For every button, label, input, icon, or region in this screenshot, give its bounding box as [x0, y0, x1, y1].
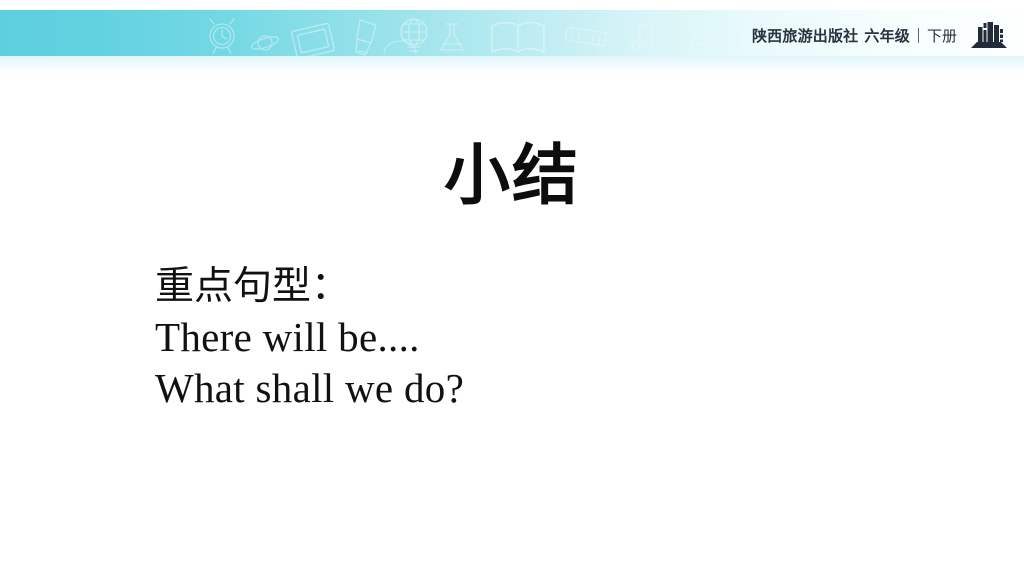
volume-label: 下册 [927, 25, 957, 46]
header-top-white-strip [0, 0, 1024, 10]
meta-divider [918, 28, 919, 43]
slide-header: 陕西旅游出版社 六年级 下册 [0, 0, 1024, 78]
globe-doodle-icon [401, 19, 427, 51]
grade-label: 六年级 [864, 25, 910, 46]
body-line-there-will-be: There will be.... [155, 312, 915, 363]
ruler-doodle-icon [565, 27, 606, 45]
publisher-label: 陕西旅游出版社 [752, 25, 858, 46]
planet-doodle-icon [250, 34, 279, 51]
alarm-clock-doodle-icon [210, 19, 234, 53]
page-title: 小结 [0, 136, 1024, 216]
music-note-doodle-icon [632, 24, 652, 49]
pencil-doodle-icon [356, 20, 376, 55]
body-line-key-patterns: 重点句型： [155, 262, 915, 312]
flask-doodle-icon [441, 24, 463, 50]
books-stack-icon [968, 19, 1010, 51]
slide-body: 重点句型： There will be.... What shall we do… [155, 262, 915, 414]
slide-root: 陕西旅游出版社 六年级 下册 [0, 0, 1024, 576]
header-bottom-fade [0, 56, 1024, 78]
header-textbook-info: 陕西旅游出版社 六年级 下册 [752, 25, 957, 46]
paper-plane-doodle-icon [690, 28, 716, 48]
body-line-what-shall-we-do: What shall we do? [155, 363, 915, 414]
tilted-book-doodle-icon [291, 23, 334, 56]
open-book-doodle-icon [492, 23, 544, 52]
header-meta-group: 陕西旅游出版社 六年级 下册 [752, 19, 1010, 51]
